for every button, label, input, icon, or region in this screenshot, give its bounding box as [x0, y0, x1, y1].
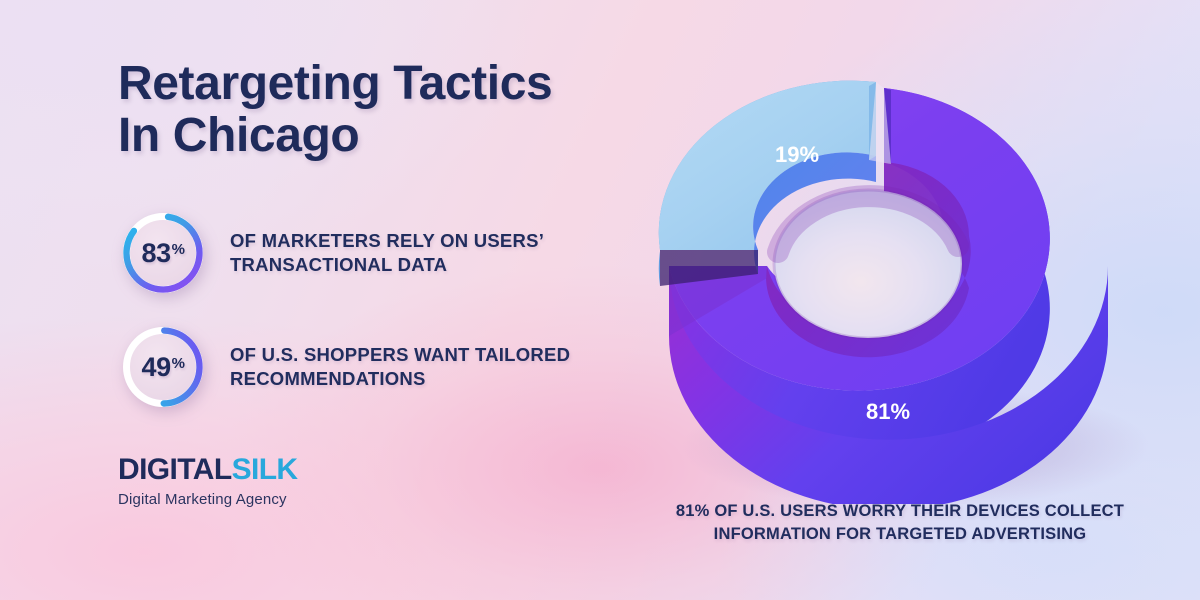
progress-ring-badge-83: 83 % [118, 208, 208, 298]
left-content-column: Retargeting Tactics In Chicago [118, 58, 678, 162]
slice-label-19: 19% [775, 142, 819, 167]
slice-label-81: 81% [866, 399, 910, 424]
logo-text-silk: SILK [232, 453, 298, 486]
stat-row-83: 83 % OF MARKETERS RELY ON USERS’ TRANSAC… [118, 208, 544, 298]
brand-logo[interactable]: DIGITALSILK Digital Marketing Agency [118, 455, 298, 507]
badge-value-83: 83 % [118, 208, 208, 298]
badge-percent-sign: % [172, 356, 185, 371]
badge-number: 83 [142, 240, 171, 267]
page-title: Retargeting Tactics In Chicago [118, 58, 678, 162]
logo-tagline: Digital Marketing Agency [118, 492, 298, 507]
stat-description-83: OF MARKETERS RELY ON USERS’ TRANSACTIONA… [230, 229, 544, 276]
logo-wordmark: DIGITALSILK [118, 455, 298, 485]
stat-row-49: 49 % OF U.S. SHOPPERS WANT TAILORED RECO… [118, 322, 570, 412]
badge-value-49: 49 % [118, 322, 208, 412]
stat-description-49: OF U.S. SHOPPERS WANT TAILORED RECOMMEND… [230, 343, 570, 390]
progress-ring-badge-49: 49 % [118, 322, 208, 412]
chart-caption: 81% OF U.S. USERS WORRY THEIR DEVICES CO… [600, 500, 1200, 547]
infographic-stage: Retargeting Tactics In Chicago [0, 0, 1200, 600]
logo-text-digital: DIGITAL [118, 453, 232, 486]
badge-percent-sign: % [172, 242, 185, 257]
badge-number: 49 [142, 354, 171, 381]
donut-chart-3d: 19% 81% [648, 42, 1188, 504]
